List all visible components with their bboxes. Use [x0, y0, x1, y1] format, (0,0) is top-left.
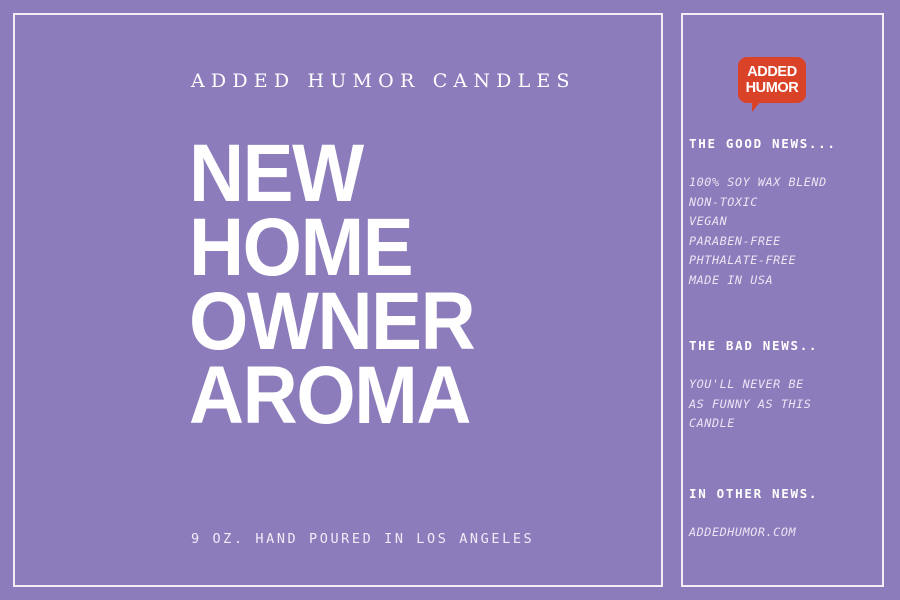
- list-item: AS FUNNY AS THIS: [689, 395, 879, 415]
- list-item: 100% SOY WAX BLEND: [689, 173, 879, 193]
- list-item: CANDLE: [689, 414, 879, 434]
- product-title-line-2: HOME: [189, 211, 626, 285]
- section-good-news-body: 100% SOY WAX BLEND NON-TOXIC VEGAN PARAB…: [689, 173, 879, 290]
- section-good-news: THE GOOD NEWS... 100% SOY WAX BLEND NON-…: [689, 136, 879, 290]
- brand-logo-line-2: HUMOR: [746, 80, 799, 96]
- list-item: MADE IN USA: [689, 271, 879, 291]
- product-title-line-3: OWNER: [189, 285, 626, 359]
- section-good-news-heading: THE GOOD NEWS...: [689, 136, 879, 151]
- product-title-line-4: AROMA: [189, 359, 626, 433]
- section-other-news: IN OTHER NEWS. ADDEDHUMOR.COM: [689, 486, 879, 543]
- section-other-news-body: ADDEDHUMOR.COM: [689, 523, 879, 543]
- product-footnote: 9 OZ. HAND POURED IN LOS ANGELES: [191, 531, 534, 547]
- list-item: PHTHALATE-FREE: [689, 251, 879, 271]
- product-title-line-1: NEW: [189, 137, 626, 211]
- section-bad-news-body: YOU'LL NEVER BE AS FUNNY AS THIS CANDLE: [689, 375, 879, 434]
- brand-logo-line-1: ADDED: [747, 64, 797, 80]
- product-title: NEW HOME OWNER AROMA: [189, 137, 626, 433]
- brand-eyebrow: ADDED HUMOR CANDLES: [191, 70, 576, 92]
- list-item: NON-TOXIC: [689, 193, 879, 213]
- brand-logo-text: ADDED HUMOR: [738, 57, 806, 103]
- brand-logo: ADDED HUMOR: [738, 57, 806, 103]
- main-panel: ADDED HUMOR CANDLES NEW HOME OWNER AROMA…: [13, 13, 663, 587]
- list-item: YOU'LL NEVER BE: [689, 375, 879, 395]
- side-panel: ADDED HUMOR THE GOOD NEWS... 100% SOY WA…: [681, 13, 884, 587]
- website-url[interactable]: ADDEDHUMOR.COM: [689, 523, 879, 543]
- list-item: PARABEN-FREE: [689, 232, 879, 252]
- section-bad-news: THE BAD NEWS.. YOU'LL NEVER BE AS FUNNY …: [689, 338, 879, 434]
- candle-label-canvas: ADDED HUMOR CANDLES NEW HOME OWNER AROMA…: [0, 0, 900, 600]
- list-item: VEGAN: [689, 212, 879, 232]
- section-bad-news-heading: THE BAD NEWS..: [689, 338, 879, 353]
- section-other-news-heading: IN OTHER NEWS.: [689, 486, 879, 501]
